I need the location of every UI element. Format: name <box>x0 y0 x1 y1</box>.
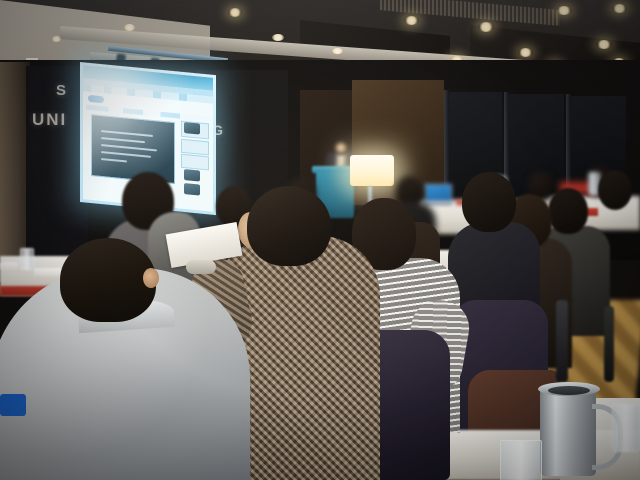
color-grade <box>0 0 640 480</box>
conference-room-photo: S UNI NG <box>0 0 640 480</box>
